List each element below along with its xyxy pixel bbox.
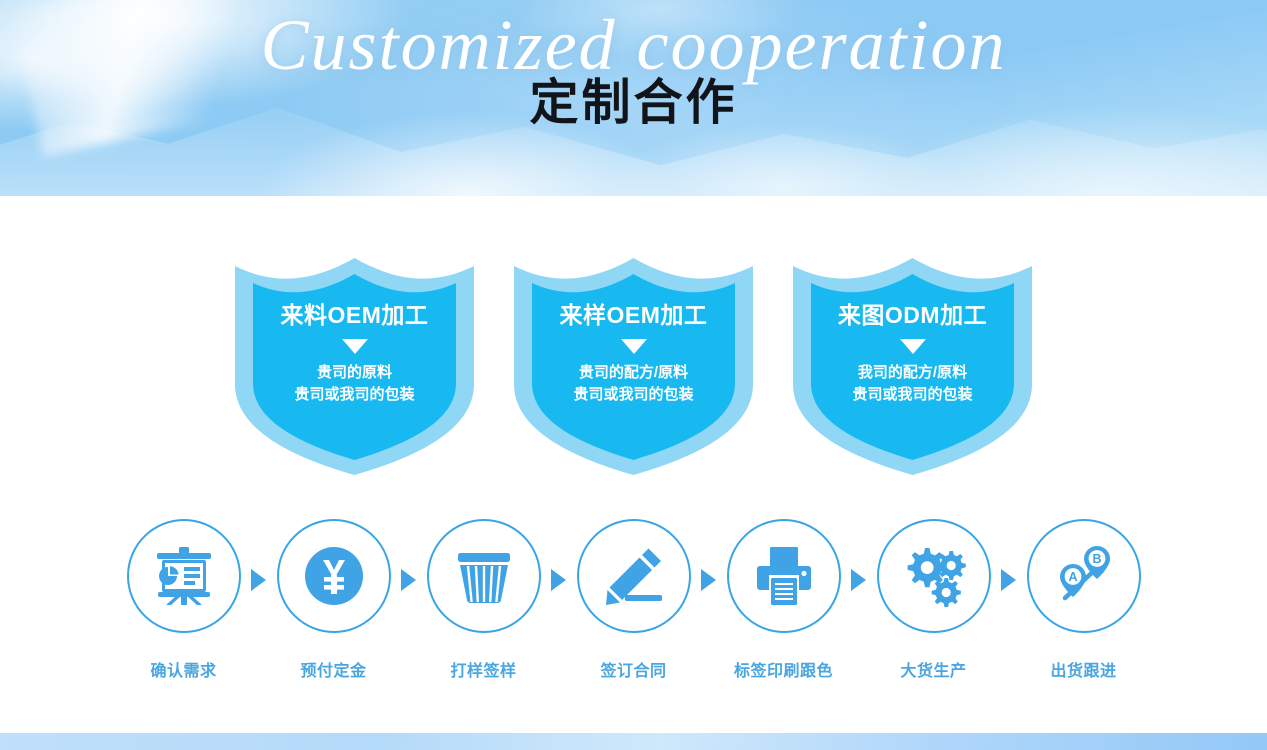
process-step-0[interactable]: 确认需求 [124,519,243,681]
printer-icon [753,545,815,607]
svg-text:B: B [1092,552,1101,566]
triangle-right-icon [551,569,566,591]
process-step-4[interactable]: 标签印刷跟色 [724,519,843,681]
triangle-right-icon [401,569,416,591]
process-step-1[interactable]: 预付定金 [274,519,393,681]
shield-card-0[interactable]: 来料OEM加工 贵司的原料 贵司或我司的包装 [231,256,478,477]
process-flow: 确认需求 预付定金 [0,519,1267,681]
presentation-board-icon [153,545,215,607]
step-label: 出货跟进 [1050,657,1116,681]
yen-coin-icon [303,545,365,607]
customized-cooperation-page: Customized cooperation 定制合作 来料OEM加工 贵司的原… [0,0,1267,750]
map-route-ab-icon: B A [1052,544,1116,608]
shield-card-2[interactable]: 来图ODM加工 我司的配方/原料 贵司或我司的包装 [789,256,1036,477]
step-label: 打样签样 [450,657,516,681]
step-label: 预付定金 [300,657,366,681]
shield-row: 来料OEM加工 贵司的原料 贵司或我司的包装 来样OEM加工 贵司的配方/原料 … [0,256,1267,477]
gears-icon [902,544,966,608]
step-circle[interactable] [727,519,841,633]
step-label: 确认需求 [150,657,216,681]
sample-basket-icon [453,545,515,607]
step-circle[interactable] [427,519,541,633]
triangle-right-icon [1001,569,1016,591]
svg-text:A: A [1068,570,1077,584]
step-label: 签订合同 [600,657,666,681]
pencil-contract-icon [603,545,665,607]
step-circle[interactable] [127,519,241,633]
step-label: 大货生产 [900,657,966,681]
step-circle[interactable] [877,519,991,633]
process-step-2[interactable]: 打样签样 [424,519,543,681]
process-step-3[interactable]: 签订合同 [574,519,693,681]
shield-shape [789,256,1036,477]
shield-shape [231,256,478,477]
shield-card-1[interactable]: 来样OEM加工 贵司的配方/原料 贵司或我司的包装 [510,256,757,477]
triangle-right-icon [851,569,866,591]
process-step-5[interactable]: 大货生产 [874,519,993,681]
step-label: 标签印刷跟色 [734,657,833,681]
footer-gradient-strip [0,733,1267,750]
step-circle[interactable] [277,519,391,633]
page-title: 定制合作 [0,63,1267,134]
triangle-right-icon [251,569,266,591]
process-step-6[interactable]: B A 出货跟进 [1024,519,1143,681]
step-circle[interactable]: B A [1027,519,1141,633]
shield-shape [510,256,757,477]
triangle-right-icon [701,569,716,591]
hero-banner: Customized cooperation 定制合作 [0,0,1267,196]
step-circle[interactable] [577,519,691,633]
